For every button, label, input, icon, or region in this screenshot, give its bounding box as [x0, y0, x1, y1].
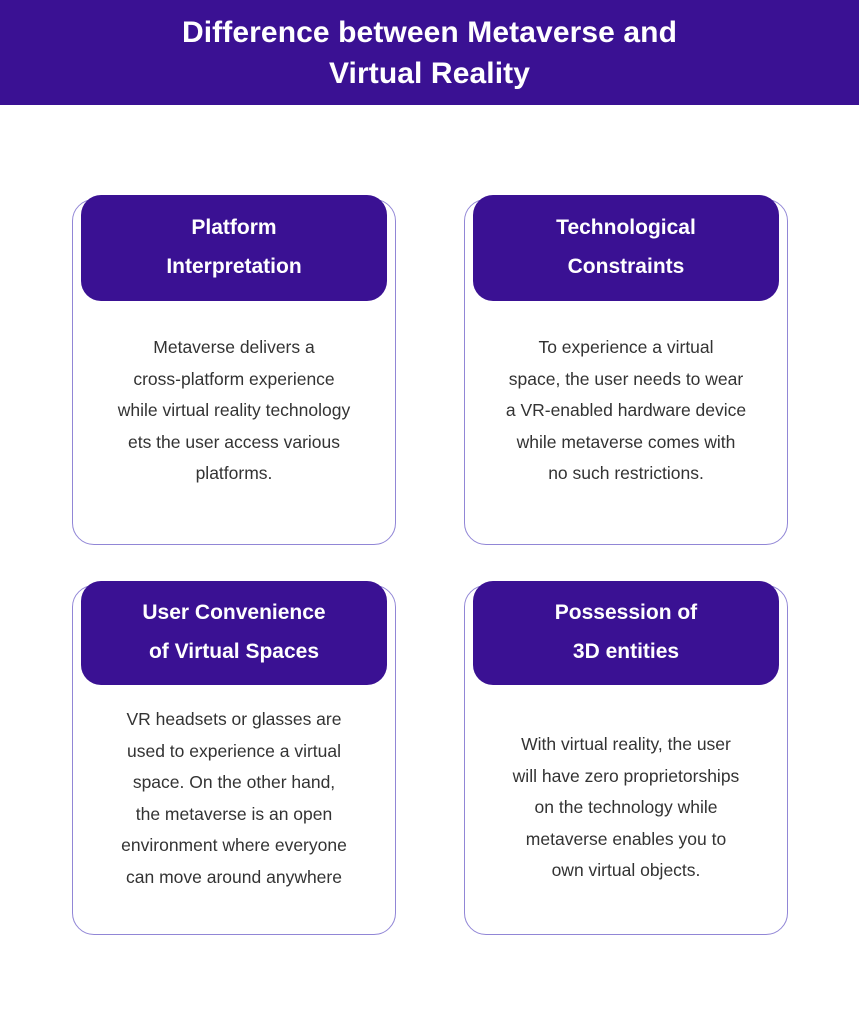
page-banner: Difference between Metaverse and Virtual… [0, 0, 859, 105]
card-header-platform-interpretation: Platform Interpretation [81, 195, 387, 301]
card-platform-interpretation: Platform Interpretation Metaverse delive… [72, 199, 396, 545]
card-header-user-convenience: User Convenience of Virtual Spaces [81, 581, 387, 685]
card-heading: Technological Constraints [556, 208, 696, 286]
page-title: Difference between Metaverse and Virtual… [182, 12, 677, 94]
card-body-platform-interpretation: Metaverse delivers a cross-platform expe… [73, 332, 395, 490]
card-description: To experience a virtual space, the user … [479, 332, 773, 490]
card-technological-constraints: Technological Constraints To experience … [464, 199, 788, 545]
card-body-possession-3d: With virtual reality, the user will have… [465, 729, 787, 887]
card-description: With virtual reality, the user will have… [479, 729, 773, 887]
card-possession-3d: Possession of 3D entities With virtual r… [464, 585, 788, 935]
card-description: VR headsets or glasses are used to exper… [87, 704, 381, 893]
card-header-technological-constraints: Technological Constraints [473, 195, 779, 301]
card-body-technological-constraints: To experience a virtual space, the user … [465, 332, 787, 490]
card-header-possession-3d: Possession of 3D entities [473, 581, 779, 685]
comparison-card-grid: Platform Interpretation Metaverse delive… [0, 105, 859, 1024]
card-body-user-convenience: VR headsets or glasses are used to exper… [73, 704, 395, 893]
card-description: Metaverse delivers a cross-platform expe… [87, 332, 381, 490]
card-heading: Platform Interpretation [166, 208, 301, 286]
card-heading: Possession of 3D entities [555, 593, 697, 671]
card-user-convenience: User Convenience of Virtual Spaces VR he… [72, 585, 396, 935]
card-heading: User Convenience of Virtual Spaces [142, 593, 325, 671]
